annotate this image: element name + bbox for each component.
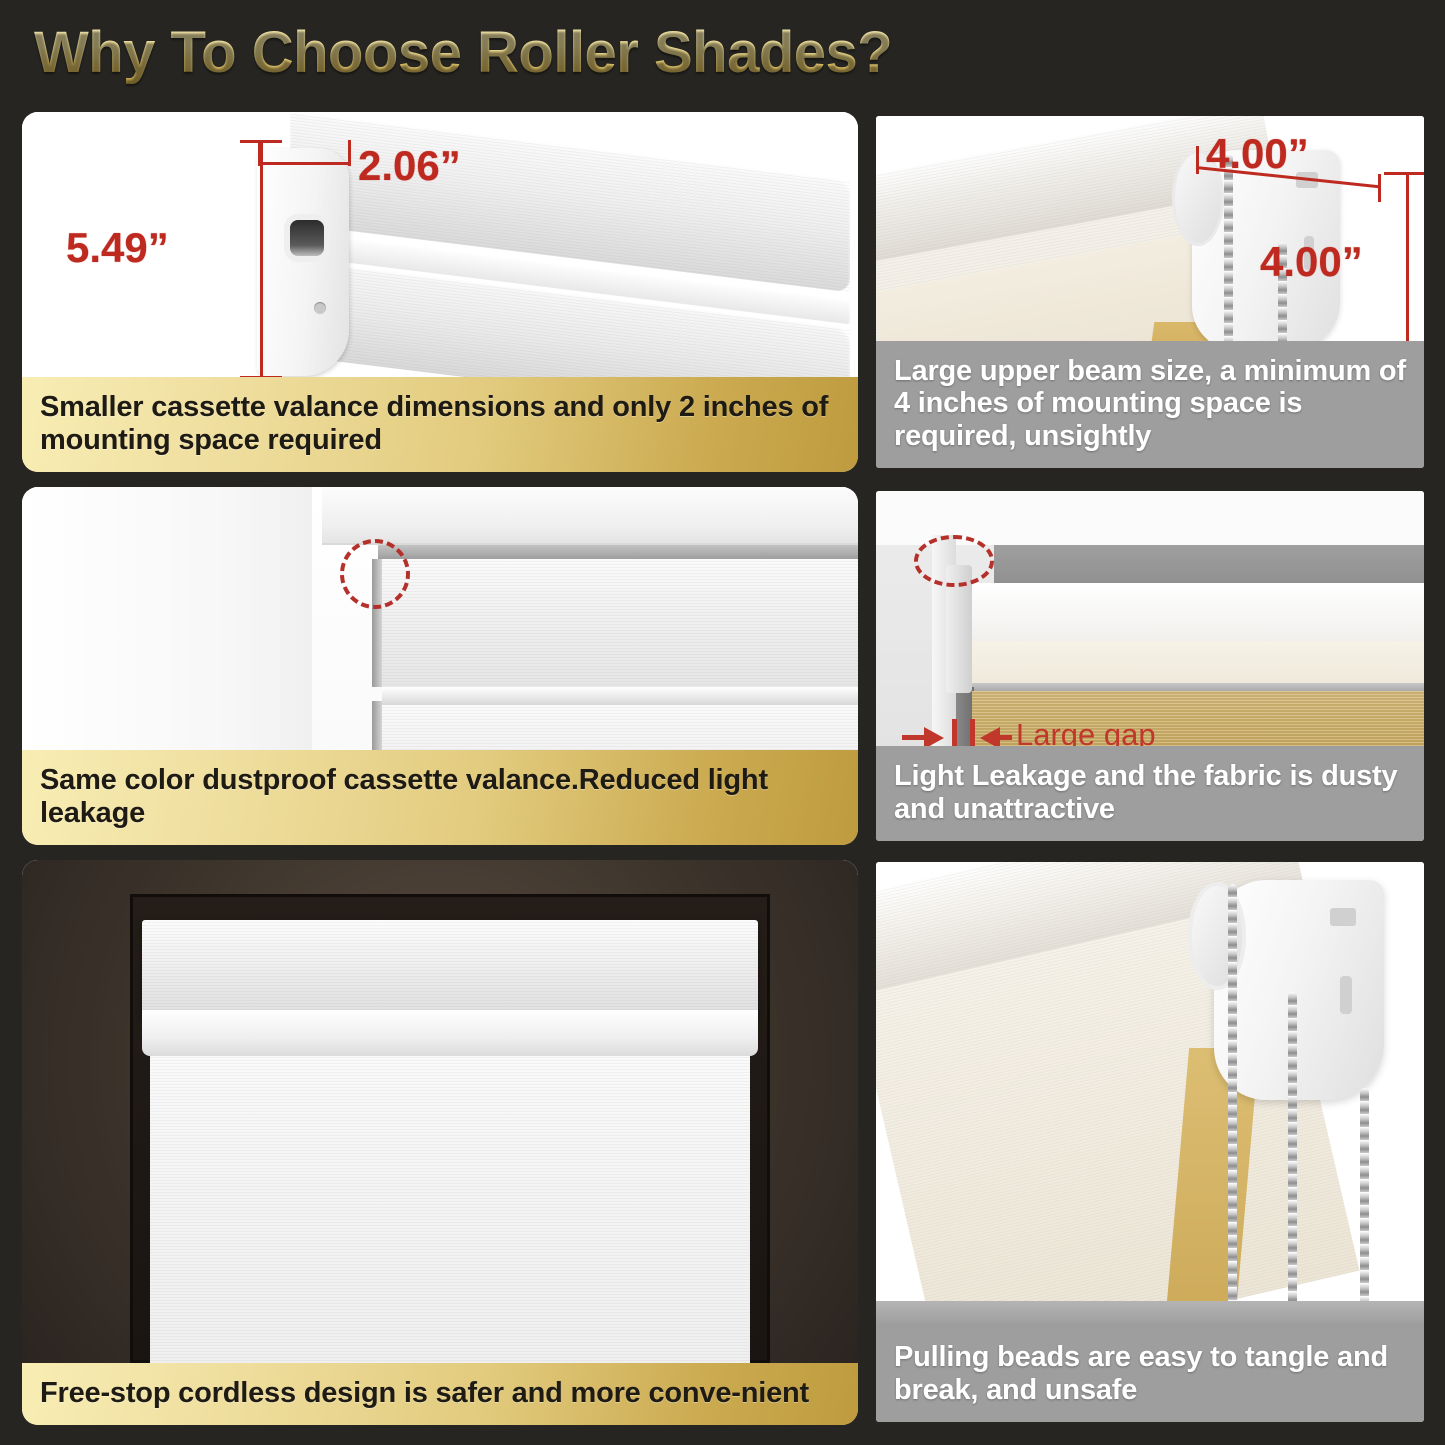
gap-arrow-right-head	[980, 727, 1000, 746]
beam-width-tick-left	[1196, 146, 1199, 174]
bracket-slot-mid	[1340, 976, 1352, 1014]
gap-marker-bar-outer	[952, 719, 957, 746]
gap-marker-bar-inner	[970, 719, 975, 746]
panel-cordless-design: Free-stop cordless design is safer and m…	[22, 860, 858, 1425]
cassette-valance	[142, 920, 758, 1016]
page-header: Why To Choose Roller Shades?	[0, 0, 1445, 104]
infographic-root: Why To Choose Roller Shades? 2.06”	[0, 0, 1445, 1445]
shade-white-band	[954, 583, 1424, 645]
highlight-circle-icon	[914, 535, 994, 587]
panel-3-photo: smaller gap	[22, 487, 858, 750]
bead-chain-right	[1360, 1088, 1369, 1327]
shade-fabric	[150, 1052, 750, 1363]
floor-shadow	[876, 1301, 1424, 1327]
height-dimension-label: 5.49”	[66, 224, 169, 272]
bead-chain-left	[1224, 154, 1233, 341]
width-dimension-label: 2.06”	[358, 142, 461, 190]
shade-band-upper	[382, 559, 858, 687]
panel-3-caption: Same color dustproof cassette valance.Re…	[22, 750, 858, 845]
highlight-circle-icon	[340, 539, 410, 609]
panel-1-caption: Smaller cassette valance dimensions and …	[22, 377, 858, 472]
panel-5-caption: Free-stop cordless design is safer and m…	[22, 1363, 858, 1425]
panel-4-photo: Large gap	[876, 491, 1424, 746]
panel-6-photo	[876, 862, 1424, 1327]
page-title: Why To Choose Roller Shades?	[34, 19, 892, 86]
width-dim-line	[258, 162, 350, 165]
bracket-slot-top	[1330, 908, 1356, 926]
panel-5-photo	[22, 860, 858, 1363]
gap-arrow-left-tail	[902, 735, 926, 740]
window-frame-top	[322, 487, 858, 545]
beam-width-label: 4.00”	[1206, 130, 1309, 178]
beam-height-label: 4.00”	[1260, 238, 1363, 286]
beam-height-tick-top	[1384, 172, 1424, 175]
valance-lip	[142, 1010, 758, 1056]
shade-band-lower	[382, 705, 858, 750]
valance-end-cap	[257, 148, 349, 376]
beam-height-line	[1406, 172, 1409, 341]
gap-arrow-left-head	[924, 727, 944, 746]
shade-divider-rail	[382, 687, 858, 705]
valance-slot	[290, 220, 324, 256]
large-gap-label: Large gap	[1016, 717, 1156, 746]
panel-dustproof-valance: smaller gap Same color dustproof cassett…	[22, 487, 858, 845]
roller-end-disc	[1188, 882, 1246, 990]
wall-left	[22, 487, 322, 750]
shade-cream-band	[958, 641, 1424, 687]
panel-1-photo: 2.06” 5.49”	[22, 112, 858, 377]
panel-2-caption: Large upper beam size, a minimum of 4 in…	[876, 341, 1424, 468]
panel-smaller-cassette: 2.06” 5.49” Smaller cassette valance dim…	[22, 112, 858, 472]
bead-chain-left	[1228, 884, 1237, 1327]
shade-left-edge-lower	[372, 701, 382, 750]
panel-2-photo: 4.00” 4.00”	[876, 116, 1424, 341]
panel-light-leakage: Large gap Light Leakage and the fabric i…	[876, 491, 1424, 841]
valance-headrail	[378, 545, 858, 559]
gap-arrow-right-tail	[1000, 735, 1012, 740]
panel-pulling-beads: Pulling beads are easy to tangle and bre…	[876, 862, 1424, 1422]
bead-chain-middle	[1288, 992, 1297, 1327]
panel-6-caption: Pulling beads are easy to tangle and bre…	[876, 1327, 1424, 1422]
panel-large-upper-beam: 4.00” 4.00” Large upper beam size, a min…	[876, 116, 1424, 468]
valance-screw	[314, 302, 326, 314]
panel-4-caption: Light Leakage and the fabric is dusty an…	[876, 746, 1424, 841]
height-dim-line	[260, 140, 263, 377]
